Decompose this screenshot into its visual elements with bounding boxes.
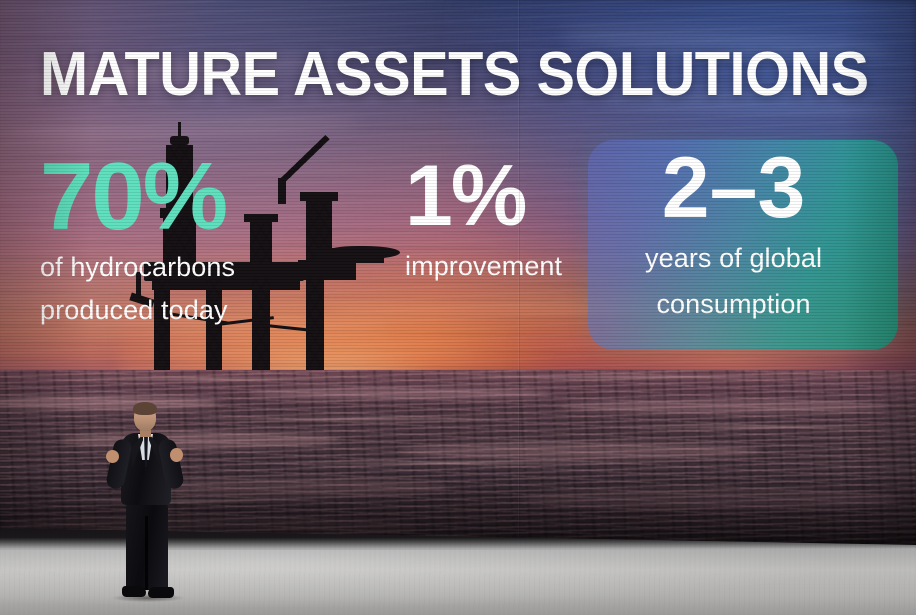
stat-improvement-caption-line1: improvement: [405, 249, 562, 284]
presenter: [104, 404, 188, 600]
presenter-shoe-right: [148, 587, 174, 598]
stat-hydrocarbons: 70% of hydrocarbons produced today: [40, 152, 235, 327]
stat-hydrocarbons-value: 70%: [40, 152, 235, 242]
presenter-hand-right: [170, 448, 183, 462]
presenter-hand-left: [106, 450, 119, 463]
presenter-hair: [133, 402, 157, 415]
presenter-shoe-left: [122, 586, 146, 597]
presenter-face-shading: [134, 414, 156, 431]
stat-consumption-value: 2–3: [645, 148, 822, 229]
stat-hydrocarbons-caption-line1: of hydrocarbons: [40, 250, 235, 285]
stat-hydrocarbons-caption-line2: produced today: [40, 293, 235, 328]
stat-improvement: 1% improvement: [405, 156, 562, 283]
stat-improvement-value: 1%: [405, 156, 562, 237]
stat-consumption-caption-line2: consumption: [645, 287, 822, 322]
slide-title: MATURE ASSETS SOLUTIONS: [40, 44, 869, 106]
presenter-leg-gap: [145, 516, 148, 590]
stat-consumption-caption-line1: years of global: [645, 241, 822, 276]
stat-consumption: 2–3 years of global consumption: [645, 148, 822, 322]
conference-stage-photo: MATURE ASSETS SOLUTIONS 70% of hydrocarb…: [0, 0, 916, 615]
